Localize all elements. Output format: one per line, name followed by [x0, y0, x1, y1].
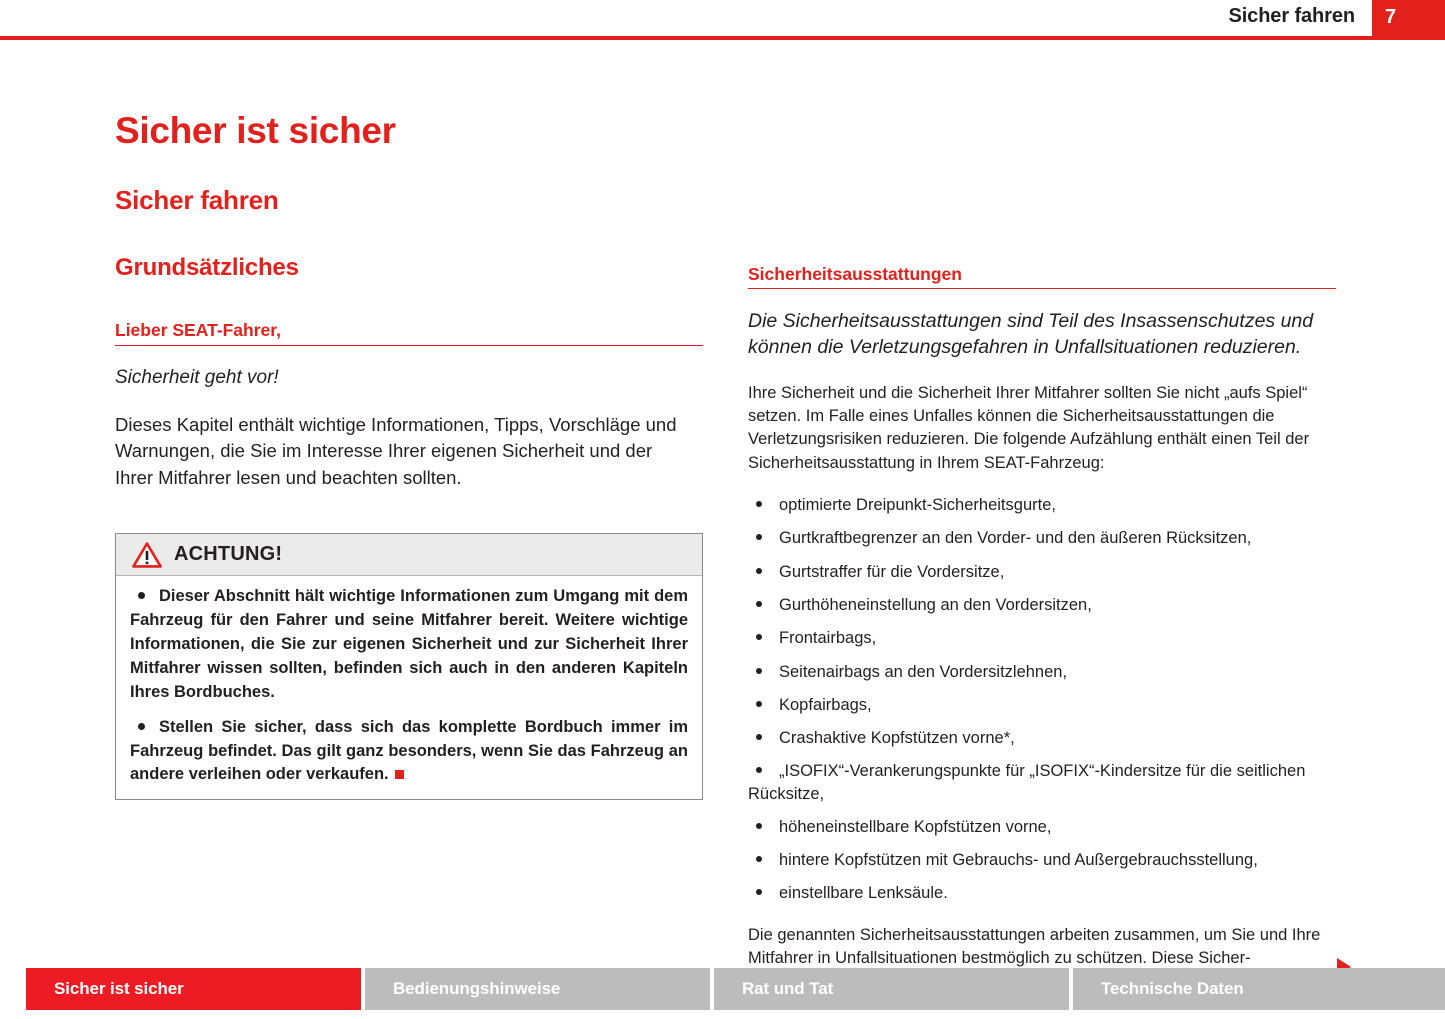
list-item-label: Crashaktive Kopfstützen vorne*,	[779, 729, 1015, 747]
list-item-label: Gurthöheneinstellung an den Vordersitzen…	[779, 596, 1092, 614]
bullet-icon	[756, 823, 762, 829]
page-header: Sicher fahren 7	[0, 0, 1445, 40]
left-column: Sicher ist sicher Sicher fahren Grundsät…	[115, 40, 705, 492]
list-item: Gurtstraffer für die Vordersitze,	[748, 561, 1336, 583]
bullet-icon	[138, 723, 145, 730]
bullet-icon	[756, 767, 762, 773]
bullet-icon	[756, 501, 762, 507]
list-item-label: Gurtkraftbegrenzer an den Vorder- und de…	[779, 529, 1251, 547]
safety-equipment-list: optimierte Dreipunkt-Sicherheitsgurte, G…	[748, 494, 1336, 904]
list-item-label: Seitenairbags an den Vordersitzlehnen,	[779, 663, 1067, 681]
bullet-icon	[756, 568, 762, 574]
list-item-label: Gurtstraffer für die Vordersitze,	[779, 563, 1004, 581]
list-item: hintere Kopfstützen mit Gebrauchs- und A…	[748, 849, 1336, 871]
footer-tab-bedienungshinweise[interactable]: Bedienungshinweise	[365, 968, 710, 1010]
list-item: Seitenairbags an den Vordersitzlehnen,	[748, 661, 1336, 683]
warning-box-header: ACHTUNG!	[116, 534, 702, 576]
footer-tab-technische-daten[interactable]: Technische Daten	[1073, 968, 1445, 1010]
bullet-icon	[756, 856, 762, 862]
footer-tab-label: Rat und Tat	[714, 979, 833, 999]
footer-tab-label: Technische Daten	[1073, 979, 1244, 999]
list-item: „ISOFIX“-Verankerungspunkte für „ISOFIX“…	[748, 760, 1336, 805]
right-intro-paragraph: Ihre Sicherheit und die Sicherheit Ihrer…	[748, 382, 1336, 476]
list-item-label: Kopfairbags,	[779, 696, 872, 714]
warning-item: Stellen Sie sicher, dass sich das komple…	[130, 716, 688, 788]
bullet-icon	[756, 734, 762, 740]
bullet-icon	[756, 889, 762, 895]
warning-title: ACHTUNG!	[174, 543, 282, 566]
warning-box-body: Dieser Abschnitt hält wichtige Informati…	[116, 576, 702, 799]
left-lead-text: Sicherheit geht vor!	[115, 365, 705, 390]
list-item: Gurtkraftbegrenzer an den Vorder- und de…	[748, 527, 1336, 549]
warning-box: ACHTUNG! Dieser Abschnitt hält wichtige …	[115, 533, 703, 800]
list-item: höheneinstellbare Kopfstützen vorne,	[748, 816, 1336, 838]
bullet-icon	[756, 668, 762, 674]
list-item: einstellbare Lenksäule.	[748, 882, 1336, 904]
warning-item-text: Stellen Sie sicher, dass sich das komple…	[130, 718, 688, 784]
page-number-block	[1372, 0, 1445, 40]
page-number: 7	[1385, 6, 1396, 29]
bullet-icon	[756, 601, 762, 607]
list-item: optimierte Dreipunkt-Sicherheitsgurte,	[748, 494, 1336, 516]
bullet-icon	[138, 592, 145, 599]
chapter-title: Sicher ist sicher	[115, 112, 705, 151]
warning-triangle-icon	[132, 542, 162, 568]
footer-tab-sicher-ist-sicher[interactable]: Sicher ist sicher	[26, 968, 361, 1010]
list-item: Crashaktive Kopfstützen vorne*,	[748, 727, 1336, 749]
page-content: Sicher ist sicher Sicher fahren Grundsät…	[0, 40, 1445, 960]
footer-tab-strip: Sicher ist sicher Bedienungshinweise Rat…	[0, 968, 1445, 1010]
bullet-icon	[756, 701, 762, 707]
left-intro-paragraph: Dieses Kapitel enthält wichtige Informat…	[115, 412, 695, 492]
right-column: Sicherheitsausstattungen Die Sicherheits…	[748, 40, 1336, 970]
right-closing-paragraph: Die genannten Sicherheitsausstattungen a…	[748, 924, 1336, 971]
list-item-label: einstellbare Lenksäule.	[779, 884, 948, 902]
footer-tab-label: Sicher ist sicher	[26, 979, 184, 999]
running-header-title: Sicher fahren	[1228, 5, 1355, 28]
list-item-label: optimierte Dreipunkt-Sicherheitsgurte,	[779, 496, 1056, 514]
bullet-icon	[756, 534, 762, 540]
section-title: Sicher fahren	[115, 187, 705, 214]
warning-item-text: Dieser Abschnitt hält wichtige Informati…	[130, 587, 688, 701]
right-lead-text: Die Sicherheitsausstattungen sind Teil d…	[748, 308, 1336, 360]
list-item-label: hintere Kopfstützen mit Gebrauchs- und A…	[779, 851, 1258, 869]
list-item: Frontairbags,	[748, 627, 1336, 649]
list-item-label: Frontairbags,	[779, 629, 876, 647]
footer-tab-rat-und-tat[interactable]: Rat und Tat	[714, 968, 1069, 1010]
list-item: Gurthöheneinstellung an den Vordersitzen…	[748, 594, 1336, 616]
warning-item: Dieser Abschnitt hält wichtige Informati…	[130, 585, 688, 705]
topic-title-lieber-seat-fahrer: Lieber SEAT-Fahrer,	[115, 321, 703, 345]
footer-tab-label: Bedienungshinweise	[365, 979, 560, 999]
end-of-warning-marker-icon	[395, 770, 404, 779]
subsection-title: Grundsätzliches	[115, 255, 705, 280]
list-item: Kopfairbags,	[748, 694, 1336, 716]
bullet-icon	[756, 634, 762, 640]
list-item-label: „ISOFIX“-Verankerungspunkte für „ISOFIX“…	[748, 762, 1305, 802]
list-item-label: höheneinstellbare Kopfstützen vorne,	[779, 818, 1051, 836]
topic-title-sicherheitsausstattungen: Sicherheitsausstattungen	[748, 265, 1336, 289]
